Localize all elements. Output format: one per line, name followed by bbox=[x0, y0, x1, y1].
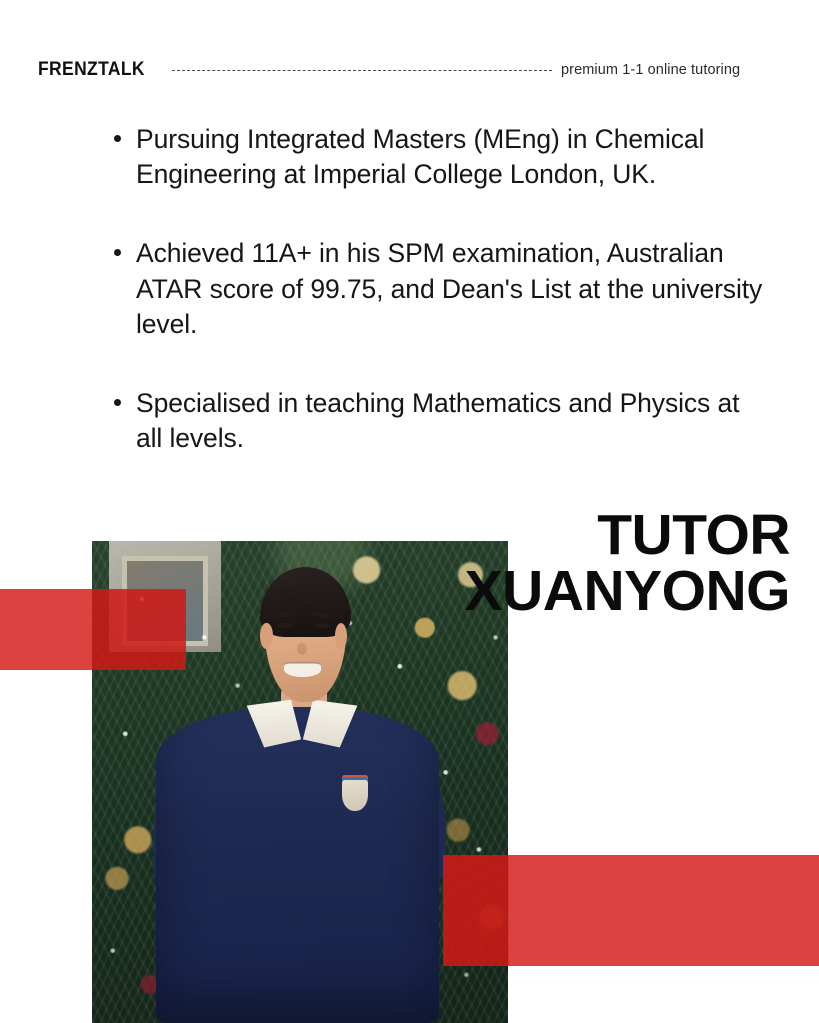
ear-left bbox=[260, 623, 272, 650]
page-title: TUTOR XUANYONG bbox=[465, 508, 790, 620]
title-line-name: XUANYONG bbox=[465, 564, 790, 620]
bullet-dot-icon bbox=[114, 135, 121, 142]
school-crest-badge bbox=[342, 775, 369, 811]
ear-right bbox=[335, 623, 347, 650]
nose bbox=[297, 643, 307, 655]
brand-logo: FRENZTALK bbox=[38, 52, 145, 88]
list-item: Specialised in teaching Mathematics and … bbox=[112, 386, 772, 456]
list-item: Achieved 11A+ in his SPM examination, Au… bbox=[112, 236, 772, 342]
smile bbox=[284, 662, 321, 677]
poster-canvas: FRENZTALK premium 1-1 online tutoring Pu… bbox=[0, 0, 819, 1023]
list-item-text: Specialised in teaching Mathematics and … bbox=[136, 388, 739, 453]
list-item: Pursuing Integrated Masters (MEng) in Ch… bbox=[112, 122, 772, 192]
red-overlay-left bbox=[92, 589, 186, 670]
bullet-dot-icon bbox=[114, 399, 121, 406]
list-item-text: Pursuing Integrated Masters (MEng) in Ch… bbox=[136, 124, 704, 189]
title-line-role: TUTOR bbox=[465, 508, 790, 564]
red-accent-bar-left bbox=[0, 589, 92, 670]
red-overlay-right bbox=[443, 855, 509, 966]
bullet-dot-icon bbox=[114, 249, 121, 256]
header-divider bbox=[172, 70, 552, 71]
navy-sweater bbox=[156, 707, 439, 1023]
brand-tagline: premium 1-1 online tutoring bbox=[561, 52, 740, 88]
list-item-text: Achieved 11A+ in his SPM examination, Au… bbox=[136, 238, 762, 338]
credentials-list: Pursuing Integrated Masters (MEng) in Ch… bbox=[112, 122, 772, 457]
red-accent-bar-right bbox=[509, 855, 819, 966]
